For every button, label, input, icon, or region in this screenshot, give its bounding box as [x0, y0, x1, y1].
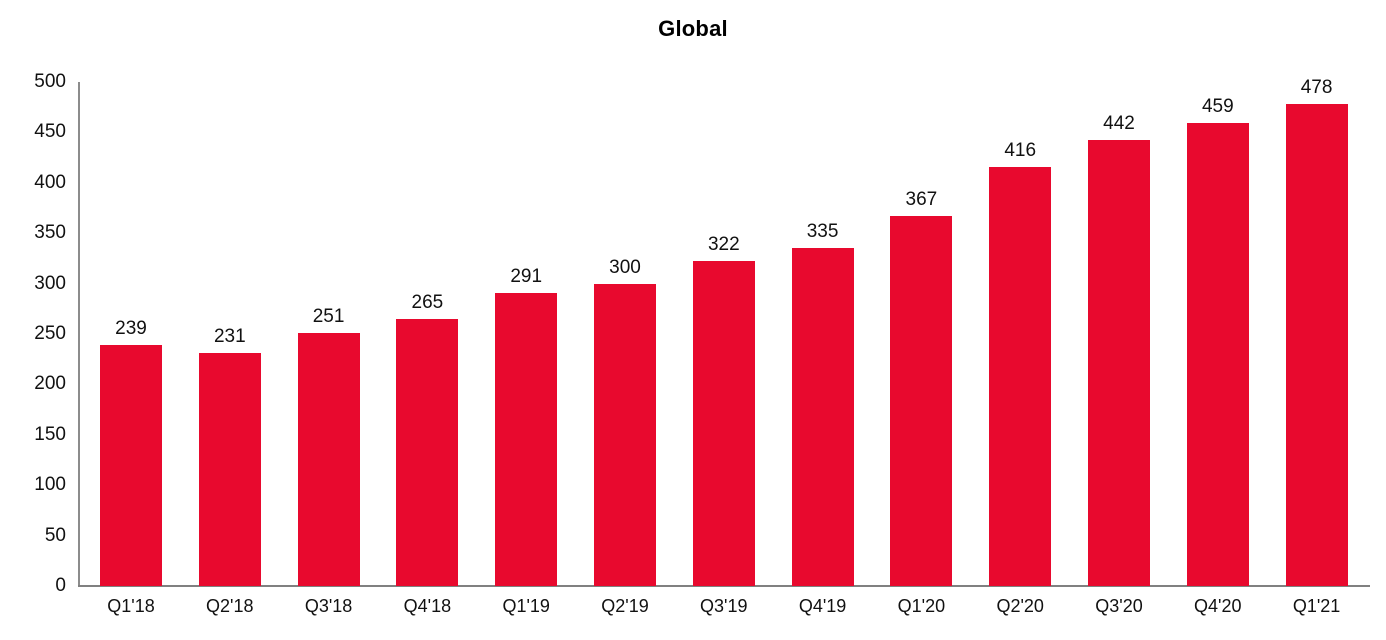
bar[interactable] [989, 167, 1051, 586]
bar-value-label: 291 [477, 267, 575, 287]
bar-group[interactable]: 251 [298, 82, 360, 586]
x-axis-tick-label: Q4'18 [372, 596, 482, 616]
bar-group[interactable]: 291 [495, 82, 557, 586]
y-axis-tick-label: 350 [4, 223, 66, 242]
bar-group[interactable]: 239 [100, 82, 162, 586]
bar-group[interactable]: 322 [693, 82, 755, 586]
bar-value-label: 442 [1070, 114, 1168, 134]
x-axis-tick-label: Q3'20 [1064, 596, 1174, 616]
bar-group[interactable]: 265 [396, 82, 458, 586]
plot-area: 239231251265291300322335367416442459478 [78, 82, 1370, 586]
x-axis-tick-label: Q4'19 [768, 596, 878, 616]
bar-value-label: 416 [971, 141, 1069, 161]
bar[interactable] [199, 353, 261, 586]
bar-value-label: 231 [181, 327, 279, 347]
bar-group[interactable]: 231 [199, 82, 261, 586]
y-axis-tick-label: 450 [4, 122, 66, 141]
y-axis-tick-label: 200 [4, 374, 66, 393]
y-axis-tick-labels: 500450400350300250200150100500 [0, 0, 66, 640]
bar-value-label: 335 [774, 222, 872, 242]
bar[interactable] [396, 319, 458, 586]
bar-value-label: 459 [1169, 97, 1267, 117]
bar-group[interactable]: 416 [989, 82, 1051, 586]
bar[interactable] [1187, 123, 1249, 586]
x-axis-tick-label: Q3'19 [669, 596, 779, 616]
x-axis-tick-label: Q2'19 [570, 596, 680, 616]
y-axis-tick-label: 400 [4, 173, 66, 192]
bar[interactable] [1088, 140, 1150, 586]
bar[interactable] [594, 284, 656, 586]
x-axis-tick-label: Q1'21 [1262, 596, 1372, 616]
bar-group[interactable]: 478 [1286, 82, 1348, 586]
bar-group[interactable]: 335 [792, 82, 854, 586]
x-axis-tick-label: Q3'18 [274, 596, 384, 616]
bar[interactable] [890, 216, 952, 586]
bar-value-label: 367 [872, 190, 970, 210]
bar[interactable] [792, 248, 854, 586]
bar-value-label: 300 [576, 258, 674, 278]
bar-group[interactable]: 459 [1187, 82, 1249, 586]
x-axis-tick-label: Q2'18 [175, 596, 285, 616]
y-axis-tick-label: 500 [4, 72, 66, 91]
bar-chart: Global 500450400350300250200150100500 23… [0, 0, 1386, 640]
x-axis-tick-label: Q4'20 [1163, 596, 1273, 616]
bar-value-label: 478 [1268, 78, 1366, 98]
x-axis-tick-label: Q1'19 [471, 596, 581, 616]
y-axis-tick-label: 150 [4, 425, 66, 444]
y-axis-tick-label: 0 [4, 576, 66, 595]
bar-value-label: 322 [675, 235, 773, 255]
bar-value-label: 265 [378, 293, 476, 313]
y-axis-tick-label: 300 [4, 274, 66, 293]
y-axis-tick-label: 100 [4, 475, 66, 494]
x-axis-tick-label: Q1'18 [76, 596, 186, 616]
y-axis-tick-label: 250 [4, 324, 66, 343]
x-axis-tick-label: Q2'20 [965, 596, 1075, 616]
bar[interactable] [495, 293, 557, 586]
bar[interactable] [693, 261, 755, 586]
bar-value-label: 251 [280, 307, 378, 327]
bar[interactable] [100, 345, 162, 586]
bar-group[interactable]: 367 [890, 82, 952, 586]
y-axis-tick-label: 50 [4, 526, 66, 545]
bar[interactable] [1286, 104, 1348, 586]
bar-group[interactable]: 442 [1088, 82, 1150, 586]
chart-title: Global [0, 16, 1386, 42]
bar-value-label: 239 [82, 319, 180, 339]
x-axis-tick-label: Q1'20 [866, 596, 976, 616]
bar[interactable] [298, 333, 360, 586]
bar-group[interactable]: 300 [594, 82, 656, 586]
